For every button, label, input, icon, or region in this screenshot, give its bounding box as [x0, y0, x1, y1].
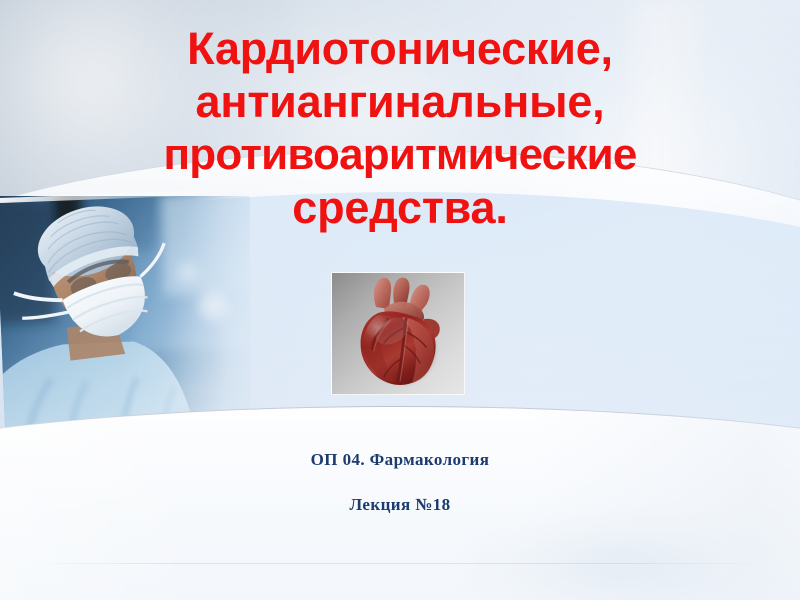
course-label: ОП 04. Фармакология — [0, 450, 800, 470]
lecture-number-label: Лекция №18 — [0, 495, 800, 515]
title-slide: Кардиотонические, антиангинальные, проти… — [0, 0, 800, 600]
page-title: Кардиотонические, антиангинальные, проти… — [60, 22, 740, 234]
title-line-1: Кардиотонические, — [60, 22, 740, 75]
title-line-4: средства. — [60, 181, 740, 234]
title-line-2: антиангинальные, — [60, 75, 740, 128]
bottom-panel-hairline — [30, 563, 770, 564]
title-line-3: противоаритмические — [60, 128, 740, 181]
anatomical-heart-icon — [332, 273, 464, 394]
heart-image — [331, 272, 465, 395]
bottom-panel-soft-shadow — [470, 520, 770, 600]
